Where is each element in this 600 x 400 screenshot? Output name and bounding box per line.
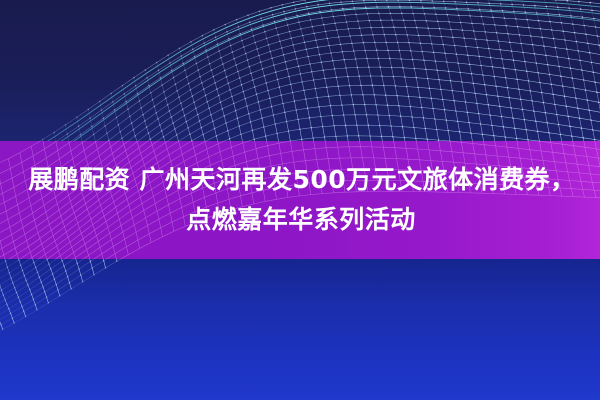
accent-band-mesh-overlay (0, 141, 600, 259)
banner-image: 展鹏配资 广州天河再发500万元文旅体消费券， 点燃嘉年华系列活动 (0, 0, 600, 400)
accent-band (0, 141, 600, 259)
